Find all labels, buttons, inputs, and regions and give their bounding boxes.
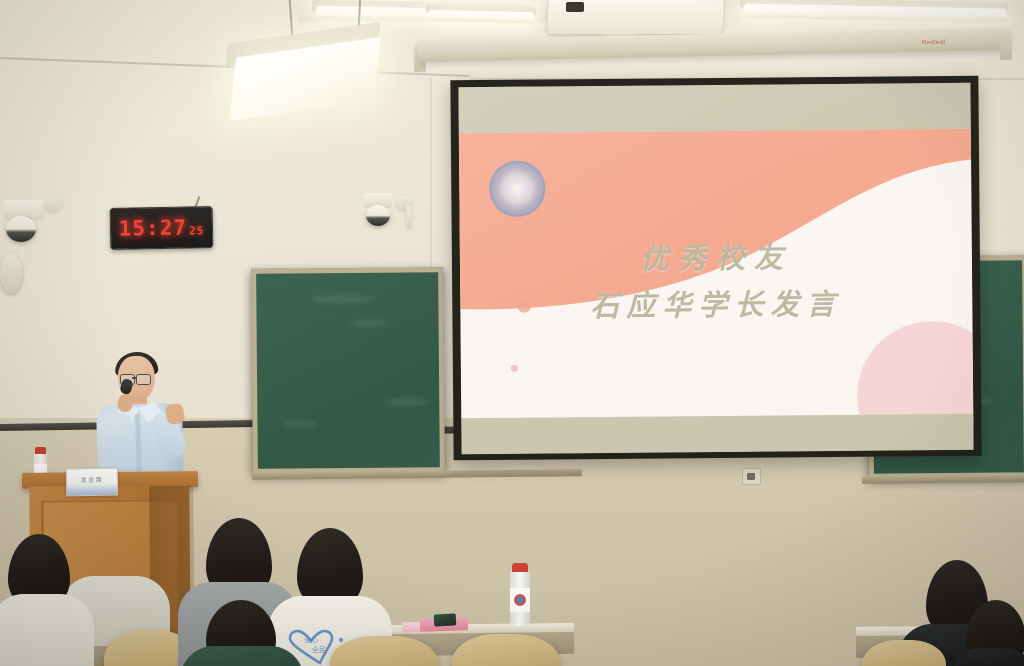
audience-member-front-left-torso bbox=[0, 594, 94, 666]
glasses-icon-right bbox=[136, 374, 151, 385]
podium-bottle-cap bbox=[35, 447, 46, 454]
desk-bottle-label bbox=[510, 588, 530, 612]
screen-surface: 优秀校友 石应华学长发言 bbox=[458, 83, 973, 454]
podium-name-card-text: 发言席 bbox=[81, 475, 104, 484]
slide-bottom-band bbox=[461, 414, 973, 454]
power-socket[interactable] bbox=[742, 468, 761, 485]
slide-top-band bbox=[458, 83, 970, 133]
svg-text:全心: 全心 bbox=[304, 635, 318, 644]
classroom-scene: Redleaf 15:27 25 bbox=[0, 0, 1024, 666]
clock-display: 15:27 25 bbox=[119, 215, 205, 240]
security-camera-icon-left bbox=[6, 216, 36, 242]
presentation-slide: 优秀校友 石应华学长发言 bbox=[459, 129, 974, 429]
desk-bottle-cap bbox=[512, 563, 528, 572]
slide-title-line1: 优秀校友 bbox=[460, 241, 972, 276]
university-emblem-icon bbox=[489, 160, 545, 216]
clock-time: 15:27 bbox=[119, 216, 188, 241]
projector-lens-icon bbox=[566, 2, 584, 12]
wall-fixture-left bbox=[0, 253, 22, 293]
audience-member-center-front-torso bbox=[180, 646, 304, 666]
wall-fitting-left bbox=[44, 196, 62, 212]
glasses-bridge bbox=[132, 377, 137, 379]
blackboard-left-frame bbox=[251, 267, 445, 474]
slide-title-block: 优秀校友 石应华学长发言 bbox=[460, 241, 973, 327]
svg-text:全民: 全民 bbox=[312, 645, 326, 654]
wall-conduit bbox=[406, 206, 411, 228]
slide-title-line2: 石应华学长发言 bbox=[460, 280, 972, 326]
digital-wall-clock: 15:27 25 bbox=[110, 206, 214, 250]
desk-phone bbox=[434, 613, 457, 626]
podium-name-card: 发言席 bbox=[66, 468, 118, 497]
clock-seconds: 25 bbox=[189, 224, 204, 237]
security-camera-icon-center bbox=[366, 205, 390, 226]
roller-case-end-right bbox=[1000, 34, 1012, 60]
slide-dot-small bbox=[511, 365, 518, 372]
roller-brand-label: Redleaf bbox=[922, 40, 946, 46]
projection-screen: 优秀校友 石应华学长发言 bbox=[450, 76, 981, 461]
